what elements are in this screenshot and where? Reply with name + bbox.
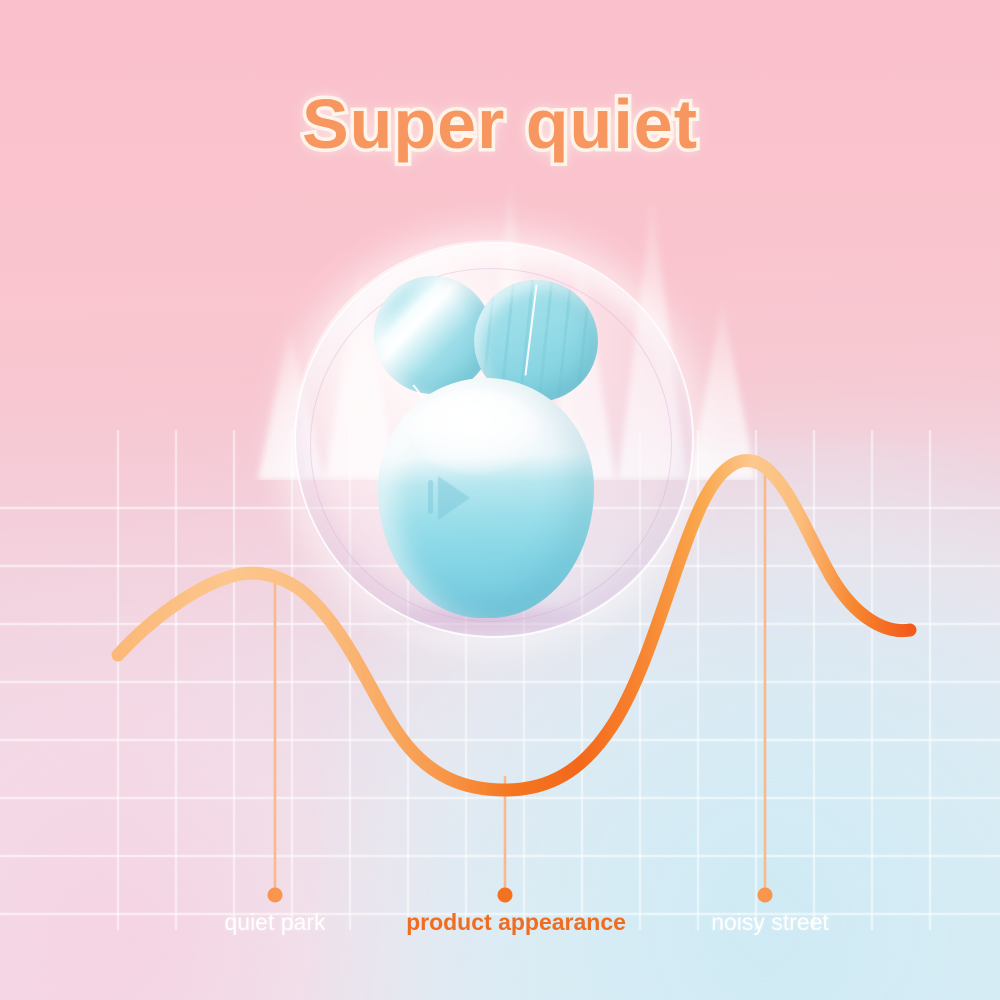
dot-noisy-street[interactable] <box>758 888 773 903</box>
label-quiet-park: quiet park <box>224 908 325 936</box>
dot-quiet-park[interactable] <box>268 888 283 903</box>
dot-product-appearance[interactable] <box>498 888 513 903</box>
marker-dots <box>268 888 773 903</box>
noise-curve-path <box>118 461 910 790</box>
poster-canvas: Super quiet quiet park product appearanc… <box>0 0 1000 1000</box>
page-title: Super quiet <box>0 84 1000 164</box>
axis-labels: quiet park product appearance noisy stre… <box>0 908 1000 948</box>
label-noisy-street: noisy street <box>711 908 829 936</box>
label-product-appearance: product appearance <box>406 908 626 936</box>
